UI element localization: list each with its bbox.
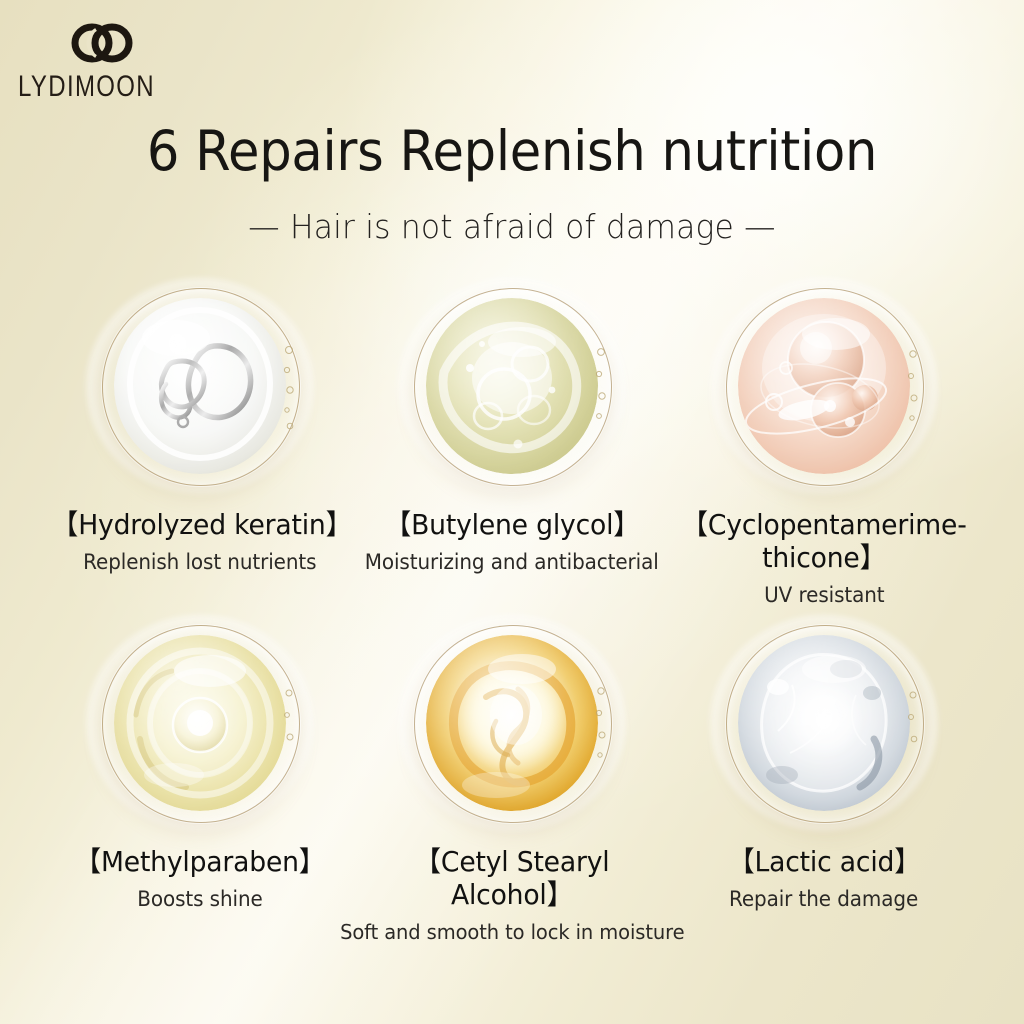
droplet-rim — [726, 625, 924, 823]
ingredient-name: 【Methylparaben】 — [75, 845, 326, 878]
ingredient-card-cyclopentamerimethicone: 【Cyclopentamerime- thicone】 UV resistant — [668, 288, 980, 607]
droplet-rim — [102, 288, 300, 486]
droplet-rose-gold-glow-bubbles — [726, 288, 922, 484]
droplet-pale-green-gel-bubbles — [414, 288, 610, 484]
droplet-pale-gold-liquid-center-bubble — [102, 625, 298, 821]
ingredient-card-butylene-glycol: 【Butylene glycol】 Moisturizing and antib… — [356, 288, 668, 607]
droplet-side-bubbles-icon — [590, 677, 612, 773]
ingredient-description: Moisturizing and antibacterial — [365, 550, 659, 574]
ingredient-name: 【Cyclopentamerime- thicone】 — [681, 508, 966, 574]
droplet-silver-white-crystal-sphere — [726, 625, 922, 821]
ingredient-card-lactic-acid: 【Lactic acid】 Repair the damage — [668, 625, 980, 944]
ingredient-description: Repair the damage — [729, 887, 918, 911]
ingredient-card-hydrolyzed-keratin: 【Hydrolyzed keratin】 Replenish lost nutr… — [44, 288, 356, 607]
ingredient-description: Soft and smooth to lock in moisture — [340, 920, 684, 944]
droplet-side-bubbles-icon — [590, 340, 612, 436]
ingredient-card-methylparaben: 【Methylparaben】 Boosts shine — [44, 625, 356, 944]
ingredient-description: Boosts shine — [137, 887, 262, 911]
droplet-clear-silver-keratin-rings — [102, 288, 298, 484]
interlocking-rings-icon — [66, 22, 208, 68]
ingredient-row-1: 【Hydrolyzed keratin】 Replenish lost nutr… — [0, 288, 1024, 607]
droplet-side-bubbles-icon — [278, 340, 300, 436]
ingredient-row-2: 【Methylparaben】 Boosts shine — [0, 625, 1024, 944]
droplet-rim — [102, 625, 300, 823]
ingredient-card-cetyl-stearyl-alcohol: 【Cetyl Stearyl Alcohol】 Soft and smooth … — [356, 625, 668, 944]
page-headline: 6 Repairs Replenish nutrition — [36, 122, 988, 180]
ingredient-name: 【Cetyl Stearyl Alcohol】 — [364, 845, 660, 911]
ingredient-grid: 【Hydrolyzed keratin】 Replenish lost nutr… — [0, 288, 1024, 944]
ingredient-description: UV resistant — [764, 583, 884, 607]
ingredient-name: 【Butylene glycol】 — [384, 508, 639, 541]
ingredient-name: 【Lactic acid】 — [728, 845, 921, 878]
droplet-rim — [414, 625, 612, 823]
page-subheadline: — Hair is not afraid of damage — — [26, 207, 999, 246]
brand-wordmark: LYDIMOON — [18, 70, 200, 104]
droplet-rim — [726, 288, 924, 486]
droplet-side-bubbles-icon — [902, 677, 924, 773]
droplet-amber-gold-swirl — [414, 625, 610, 821]
droplet-side-bubbles-icon — [278, 677, 300, 773]
ingredient-name: 【Hydrolyzed keratin】 — [52, 508, 348, 541]
ingredient-description: Replenish lost nutrients — [83, 550, 316, 574]
droplet-rim — [414, 288, 612, 486]
product-ingredient-poster: LYDIMOON 6 Repairs Replenish nutrition —… — [0, 0, 1024, 1024]
brand-logo: LYDIMOON — [18, 22, 208, 99]
droplet-side-bubbles-icon — [902, 340, 924, 436]
